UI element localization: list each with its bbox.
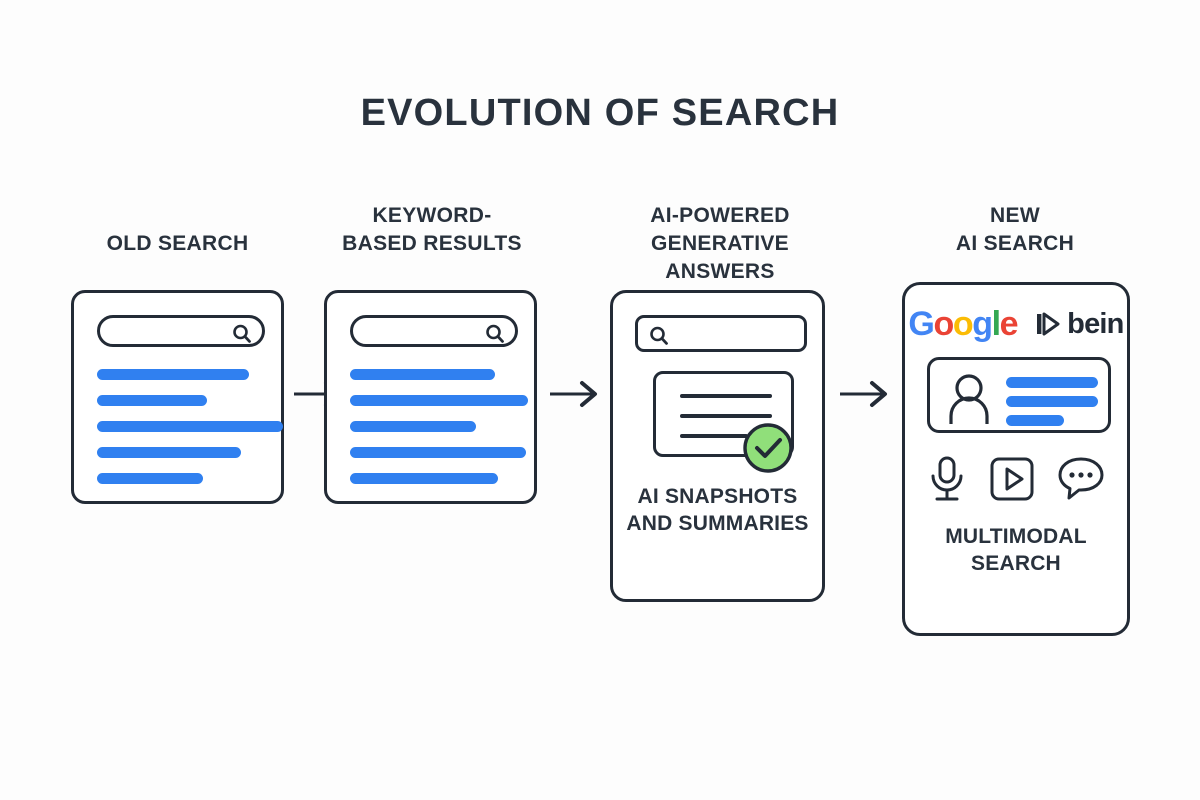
bein-logo-text: bein <box>1067 310 1123 339</box>
result-bar <box>97 473 203 484</box>
result-bar <box>350 447 526 458</box>
step-heading-keyword-results: KEYWORD- BASED RESULTS <box>312 202 552 258</box>
check-circle-icon <box>741 421 795 480</box>
magnifier-icon <box>230 322 254 346</box>
panel-ai-generative: AI SNAPSHOTS AND SUMMARIES <box>610 290 825 602</box>
arrow-ai-to-new <box>838 378 894 410</box>
step-ai-generative: AI-POWERED GENERATIVE ANSWERS <box>600 190 840 610</box>
panel-keyword-results <box>324 290 537 504</box>
google-logo: Google <box>908 307 1017 341</box>
snapshot-line <box>680 394 772 398</box>
result-bar <box>97 447 241 458</box>
panel-new-ai-search: Google bein <box>902 282 1130 636</box>
brand-logos-row: Google bein <box>905 307 1127 341</box>
snapshot-line <box>680 414 772 418</box>
chat-bubble-icon[interactable] <box>1057 456 1105 502</box>
magnifier-icon <box>647 324 671 348</box>
panel-old-search <box>71 290 284 504</box>
step-keyword-results: KEYWORD- BASED RESULTS <box>312 190 552 520</box>
caption-new-ai-search: MULTIMODAL SEARCH <box>905 523 1127 578</box>
search-input-keyword[interactable] <box>350 315 518 347</box>
media-icons-row <box>905 455 1127 503</box>
result-bar <box>97 369 249 380</box>
profile-result-card <box>927 357 1111 433</box>
microphone-icon[interactable] <box>927 455 967 503</box>
result-bar <box>1006 396 1098 407</box>
page-title: EVOLUTION OF SEARCH <box>0 92 1200 135</box>
step-new-ai-search: NEW AI SEARCH Google bein <box>890 190 1140 650</box>
step-heading-old-search: OLD SEARCH <box>60 230 295 258</box>
bein-logo: bein <box>1035 310 1123 339</box>
step-heading-ai-generative: AI-POWERED GENERATIVE ANSWERS <box>600 202 840 286</box>
bein-play-icon <box>1035 311 1061 337</box>
step-heading-new-ai-search: NEW AI SEARCH <box>890 202 1140 258</box>
magnifier-icon <box>483 322 507 346</box>
snapshot-line <box>680 434 748 438</box>
caption-ai-generative: AI SNAPSHOTS AND SUMMARIES <box>613 483 822 538</box>
result-bar <box>1006 377 1098 388</box>
result-bar <box>350 421 476 432</box>
person-icon <box>944 372 994 424</box>
infographic-canvas: EVOLUTION OF SEARCH OLD SEARCH KEYWORD- … <box>0 0 1200 800</box>
step-old-search: OLD SEARCH <box>60 190 295 520</box>
result-bar <box>350 369 495 380</box>
video-play-icon[interactable] <box>989 456 1035 502</box>
result-bar <box>97 421 283 432</box>
arrow-keyword-to-ai <box>548 378 604 410</box>
result-bar <box>350 473 498 484</box>
search-input-ai[interactable] <box>635 315 807 352</box>
result-bar <box>1006 415 1064 426</box>
result-bar <box>350 395 528 406</box>
result-bar <box>97 395 207 406</box>
search-input-old[interactable] <box>97 315 265 347</box>
